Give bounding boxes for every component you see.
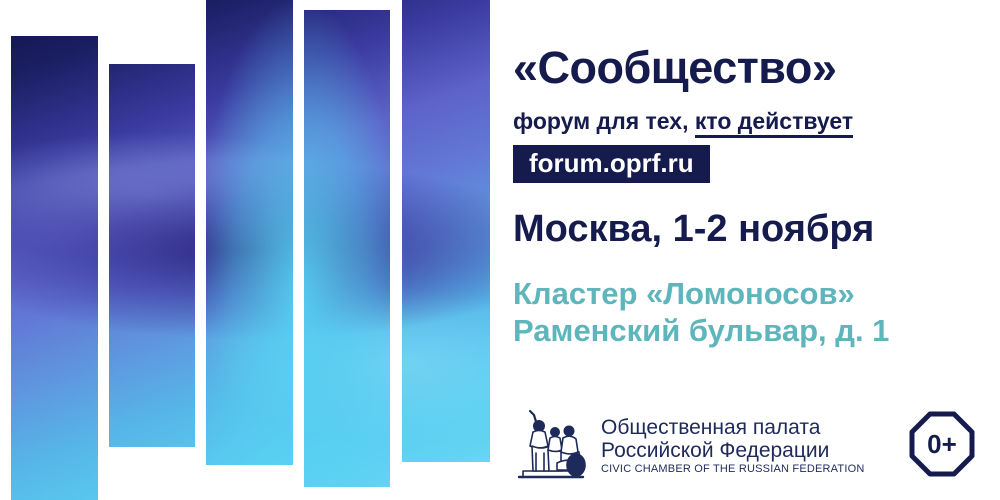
age-rating-badge: 0+ <box>909 411 975 477</box>
promo-banner: «Сообщество» форум для тех, кто действуе… <box>0 0 1000 500</box>
gradient-bar-5 <box>402 0 490 462</box>
city-and-date: Москва, 1-2 ноября <box>513 208 874 251</box>
content-column: «Сообщество» форум для тех, кто действуе… <box>513 0 1000 500</box>
venue-line-1: Кластер «Ломоносов» <box>513 275 889 312</box>
tagline-emphasis: кто действует <box>695 108 853 138</box>
venue-address: Кластер «Ломоносов» Раменский бульвар, д… <box>513 275 889 349</box>
gradient-bar-4 <box>304 10 390 487</box>
civic-chamber-emblem-icon <box>513 405 591 485</box>
logo-line-1: Общественная палата <box>601 416 864 439</box>
venue-line-2: Раменский бульвар, д. 1 <box>513 312 889 349</box>
event-tagline: форум для тех, кто действует <box>513 108 853 135</box>
tagline-prefix: форум для тех, <box>513 108 695 134</box>
age-rating-label: 0+ <box>909 411 975 477</box>
event-title: «Сообщество» <box>513 42 836 94</box>
logo-line-2: Российской Федерации <box>601 439 864 462</box>
abstract-gradient-artwork <box>0 0 492 500</box>
civic-chamber-logo: Общественная палата Российской Федерации… <box>513 405 864 485</box>
website-url-badge[interactable]: forum.oprf.ru <box>513 145 710 183</box>
gradient-bar-1 <box>11 36 98 500</box>
logo-wordmark: Общественная палата Российской Федерации… <box>601 405 864 477</box>
gradient-bar-3 <box>206 0 293 465</box>
gradient-bar-2 <box>109 64 195 447</box>
logo-line-english: CIVIC CHAMBER OF THE RUSSIAN FEDERATION <box>601 462 864 477</box>
